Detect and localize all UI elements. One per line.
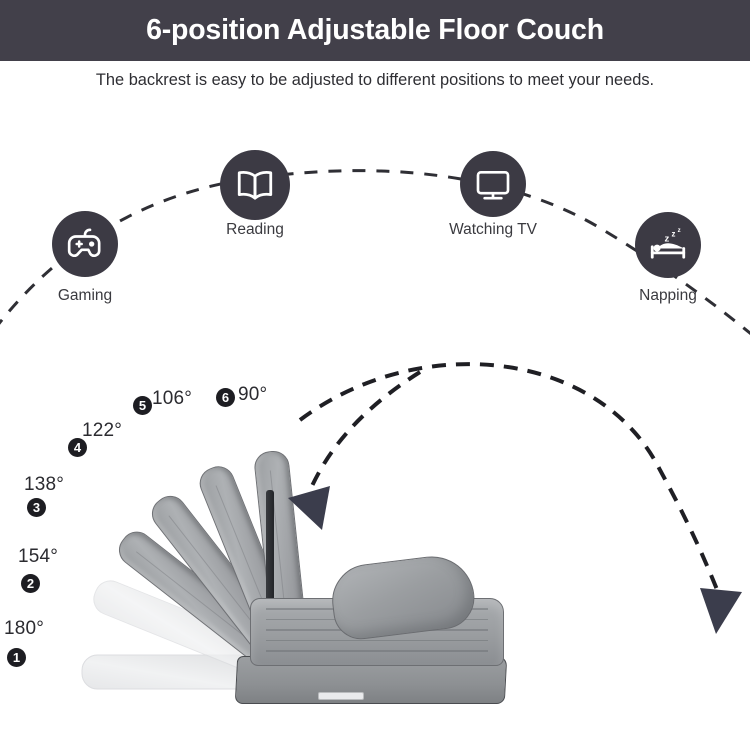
open-book-icon [234, 164, 276, 206]
use-case-label-gaming: Gaming [58, 287, 112, 305]
angle-badge-6: 6 [216, 388, 235, 407]
use-case-label-watching-tv: Watching TV [449, 221, 537, 239]
use-case-label-napping: Napping [639, 287, 697, 305]
angle-value-2: 154° [18, 546, 58, 568]
angle-value-3: 138° [24, 474, 64, 496]
svg-text:z: z [678, 227, 681, 234]
use-case-reading[interactable] [220, 150, 290, 220]
angle-badge-3: 3 [27, 498, 46, 517]
angle-badge-1: 1 [7, 648, 26, 667]
use-case-watching-tv[interactable] [460, 151, 526, 217]
use-case-gaming[interactable] [52, 211, 118, 277]
subtitle-text: The backrest is easy to be adjusted to d… [0, 71, 750, 90]
angle-badge-2: 2 [21, 574, 40, 593]
svg-text:z: z [665, 234, 670, 245]
game-controller-icon [65, 224, 105, 264]
infographic-page: 6-position Adjustable Floor Couch The ba… [0, 0, 750, 750]
angle-badge-5: 5 [133, 396, 152, 415]
sleeping-bed-icon: z z z [647, 224, 689, 266]
page-title: 6-position Adjustable Floor Couch [146, 14, 604, 47]
use-case-napping[interactable]: z z z [635, 212, 701, 278]
angle-value-6: 90° [238, 384, 267, 406]
couch-label-tag [318, 692, 364, 700]
television-icon [473, 164, 513, 204]
header-bar: 6-position Adjustable Floor Couch [0, 0, 750, 61]
use-case-label-reading: Reading [226, 221, 284, 239]
svg-text:z: z [672, 229, 676, 238]
angle-value-5: 106° [152, 388, 192, 410]
angle-value-4: 122° [82, 420, 122, 442]
angle-badge-4: 4 [68, 438, 87, 457]
product-illustration [0, 330, 750, 750]
angle-value-1: 180° [4, 618, 44, 640]
